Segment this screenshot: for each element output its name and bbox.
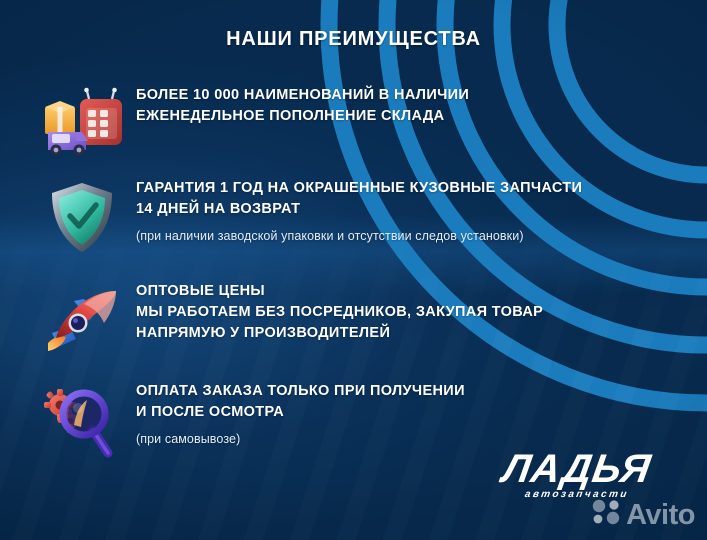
feature-note: (при наличии заводской упаковки и отсутс… xyxy=(136,227,582,245)
brand-logo: ЛАДЬЯ автозапчасти xyxy=(503,450,651,500)
feature-line: ОПТОВЫЕ ЦЕНЫ xyxy=(136,281,543,302)
avito-dots-icon xyxy=(592,499,622,530)
feature-line: 14 ДНЕЙ НА ВОЗВРАТ xyxy=(136,199,582,220)
feature-note: (при самовывозе) xyxy=(136,430,465,448)
page-title: НАШИ ПРЕИМУЩЕСТВА xyxy=(0,28,707,51)
delivery-truck-calendar-icon xyxy=(28,83,136,157)
feature-item: ГАРАНТИЯ 1 ГОД НА ОКРАШЕННЫЕ КУЗОВНЫЕ ЗА… xyxy=(28,176,687,258)
avito-label: Avito xyxy=(626,500,695,530)
feature-line: ГАРАНТИЯ 1 ГОД НА ОКРАШЕННЫЕ КУЗОВНЫЕ ЗА… xyxy=(136,178,582,199)
feature-text: ОПТОВЫЕ ЦЕНЫ МЫ РАБОТАЕМ БЕЗ ПОСРЕДНИКОВ… xyxy=(136,279,543,344)
avito-watermark: Avito xyxy=(592,499,695,530)
feature-text: ГАРАНТИЯ 1 ГОД НА ОКРАШЕННЫЕ КУЗОВНЫЕ ЗА… xyxy=(136,176,582,245)
feature-line: ЕЖЕНЕДЕЛЬНОЕ ПОПОЛНЕНИЕ СКЛАДА xyxy=(136,106,469,127)
feature-line: НАПРЯМУЮ У ПРОИЗВОДИТЕЛЕЙ xyxy=(136,323,543,344)
feature-line: МЫ РАБОТАЕМ БЕЗ ПОСРЕДНИКОВ, ЗАКУПАЯ ТОВ… xyxy=(136,302,543,323)
feature-line: БОЛЕЕ 10 000 НАИМЕНОВАНИЙ В НАЛИЧИИ xyxy=(136,85,469,106)
feature-item: БОЛЕЕ 10 000 НАИМЕНОВАНИЙ В НАЛИЧИИ ЕЖЕН… xyxy=(28,83,687,157)
feature-text: БОЛЕЕ 10 000 НАИМЕНОВАНИЙ В НАЛИЧИИ ЕЖЕН… xyxy=(136,83,469,127)
brand-name: ЛАДЬЯ xyxy=(500,450,654,488)
rocket-icon xyxy=(28,279,136,357)
promo-banner: НАШИ ПРЕИМУЩЕСТВА xyxy=(0,0,707,540)
feature-item: ОПТОВЫЕ ЦЕНЫ МЫ РАБОТАЕМ БЕЗ ПОСРЕДНИКОВ… xyxy=(28,279,687,357)
magnifier-gears-icon xyxy=(28,379,136,459)
feature-line: ОПЛАТА ЗАКАЗА ТОЛЬКО ПРИ ПОЛУЧЕНИИ xyxy=(136,381,465,402)
feature-line: И ПОСЛЕ ОСМОТРА xyxy=(136,402,465,423)
shield-check-icon xyxy=(28,176,136,258)
feature-text: ОПЛАТА ЗАКАЗА ТОЛЬКО ПРИ ПОЛУЧЕНИИ И ПОС… xyxy=(136,379,465,448)
